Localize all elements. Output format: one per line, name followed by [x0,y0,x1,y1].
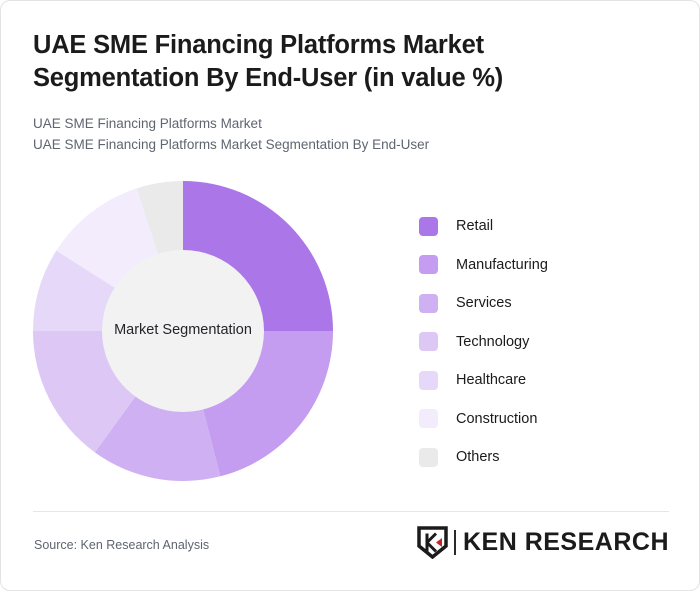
legend-item-construction[interactable]: Construction [419,400,669,439]
legend-item-label: Others [456,449,500,465]
subtitle-segmentation: UAE SME Financing Platforms Market Segme… [33,135,653,156]
legend-swatch-icon [419,371,438,390]
brand-logo: KEN RESEARCH [417,525,669,559]
legend-item-label: Manufacturing [456,257,548,273]
legend-swatch-icon [419,332,438,351]
ken-research-shield-k-logo-icon [417,526,448,559]
donut-chart: Market Segmentation [33,181,333,481]
legend-item-label: Retail [456,218,493,234]
legend-swatch-icon [419,294,438,313]
legend-item-manufacturing[interactable]: Manufacturing [419,246,669,285]
legend-item-others[interactable]: Others [419,438,669,477]
legend-item-label: Construction [456,411,537,427]
brand-name: KEN RESEARCH [463,530,669,555]
legend-swatch-icon [419,409,438,428]
legend-item-retail[interactable]: Retail [419,207,669,246]
brand-separator [454,530,456,555]
legend-swatch-icon [419,255,438,274]
donut-center-label: Market Segmentation [106,322,260,339]
footer-divider [33,511,669,512]
legend-item-healthcare[interactable]: Healthcare [419,361,669,400]
legend-item-label: Technology [456,334,529,350]
source-note: Source: Ken Research Analysis [34,538,209,552]
page-title: UAE SME Financing Platforms Market Segme… [33,29,653,94]
donut-center: Market Segmentation [102,250,264,412]
legend-item-services[interactable]: Services [419,284,669,323]
legend-item-technology[interactable]: Technology [419,323,669,362]
legend-swatch-icon [419,217,438,236]
chart-area: Market Segmentation RetailManufacturingS… [1,169,700,499]
subtitle-block: UAE SME Financing Platforms Market UAE S… [33,114,653,155]
legend-item-label: Services [456,295,512,311]
chart-legend: RetailManufacturingServicesTechnologyHea… [419,207,669,477]
chart-card: UAE SME Financing Platforms Market Segme… [0,0,700,591]
legend-item-label: Healthcare [456,372,526,388]
subtitle-market: UAE SME Financing Platforms Market [33,114,653,135]
legend-swatch-icon [419,448,438,467]
